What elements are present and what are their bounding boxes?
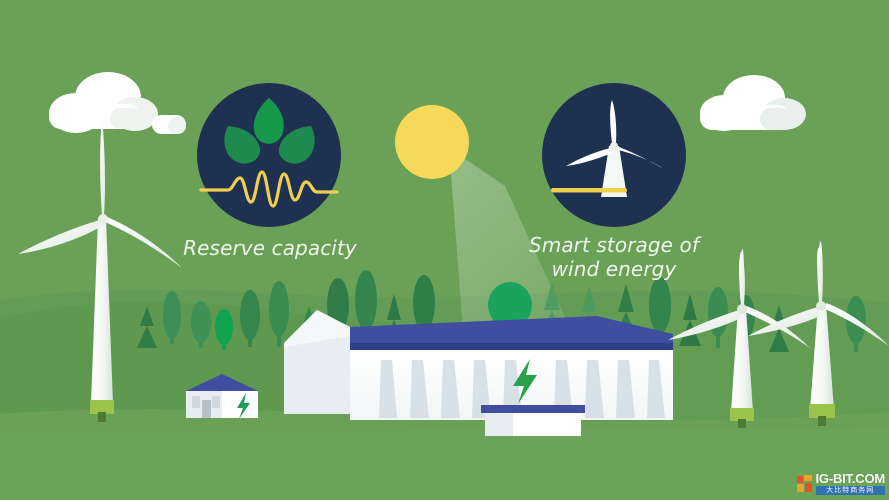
- badge-reserve-capacity[interactable]: [197, 83, 341, 227]
- cloud-small-left: [152, 115, 186, 134]
- substation-block-roof: [481, 405, 585, 413]
- sun-icon: [395, 105, 469, 179]
- tree: [215, 309, 233, 345]
- turbine-base: [809, 404, 835, 418]
- substation-block-shadow: [485, 412, 513, 436]
- tree: [413, 275, 435, 331]
- tree: [355, 270, 377, 330]
- tree: [240, 290, 260, 340]
- watermark-text: IG-BIT.COM 大比特商务网: [816, 472, 886, 495]
- foreground-ground-front: [0, 428, 889, 500]
- tree: [649, 277, 671, 333]
- badge-label-smart-storage: Smart storage of wind energy: [505, 233, 723, 282]
- tree: [163, 291, 181, 339]
- watermark-subtitle: 大比特商务网: [816, 486, 886, 495]
- turbine-hub: [98, 214, 108, 224]
- turbine-footing: [818, 416, 826, 426]
- turbine-footing: [98, 412, 106, 422]
- scene-artwork: [0, 0, 889, 500]
- turbine-base: [90, 400, 114, 414]
- turbine-hub: [816, 301, 826, 311]
- illustration-canvas: Reserve capacity Smart storage of wind e…: [0, 0, 889, 500]
- turbine-hub: [737, 304, 747, 314]
- ig-bit-logo-icon: [797, 475, 813, 493]
- watermark-domain: IG-BIT.COM: [816, 472, 886, 485]
- tree: [191, 301, 211, 343]
- turbine-footing: [738, 419, 746, 428]
- watermark: IG-BIT.COM 大比特商务网: [797, 472, 886, 495]
- badge-label-reserve-capacity: Reserve capacity: [170, 236, 370, 260]
- small-house-window-right: [212, 396, 220, 408]
- ground-bar: [551, 188, 627, 193]
- turbine-hub: [610, 142, 618, 150]
- warehouse-roof-edge: [350, 343, 673, 350]
- badge-smart-storage[interactable]: [542, 83, 686, 227]
- small-house-window-left: [192, 396, 200, 408]
- tree: [269, 281, 289, 337]
- small-house-door: [202, 400, 211, 418]
